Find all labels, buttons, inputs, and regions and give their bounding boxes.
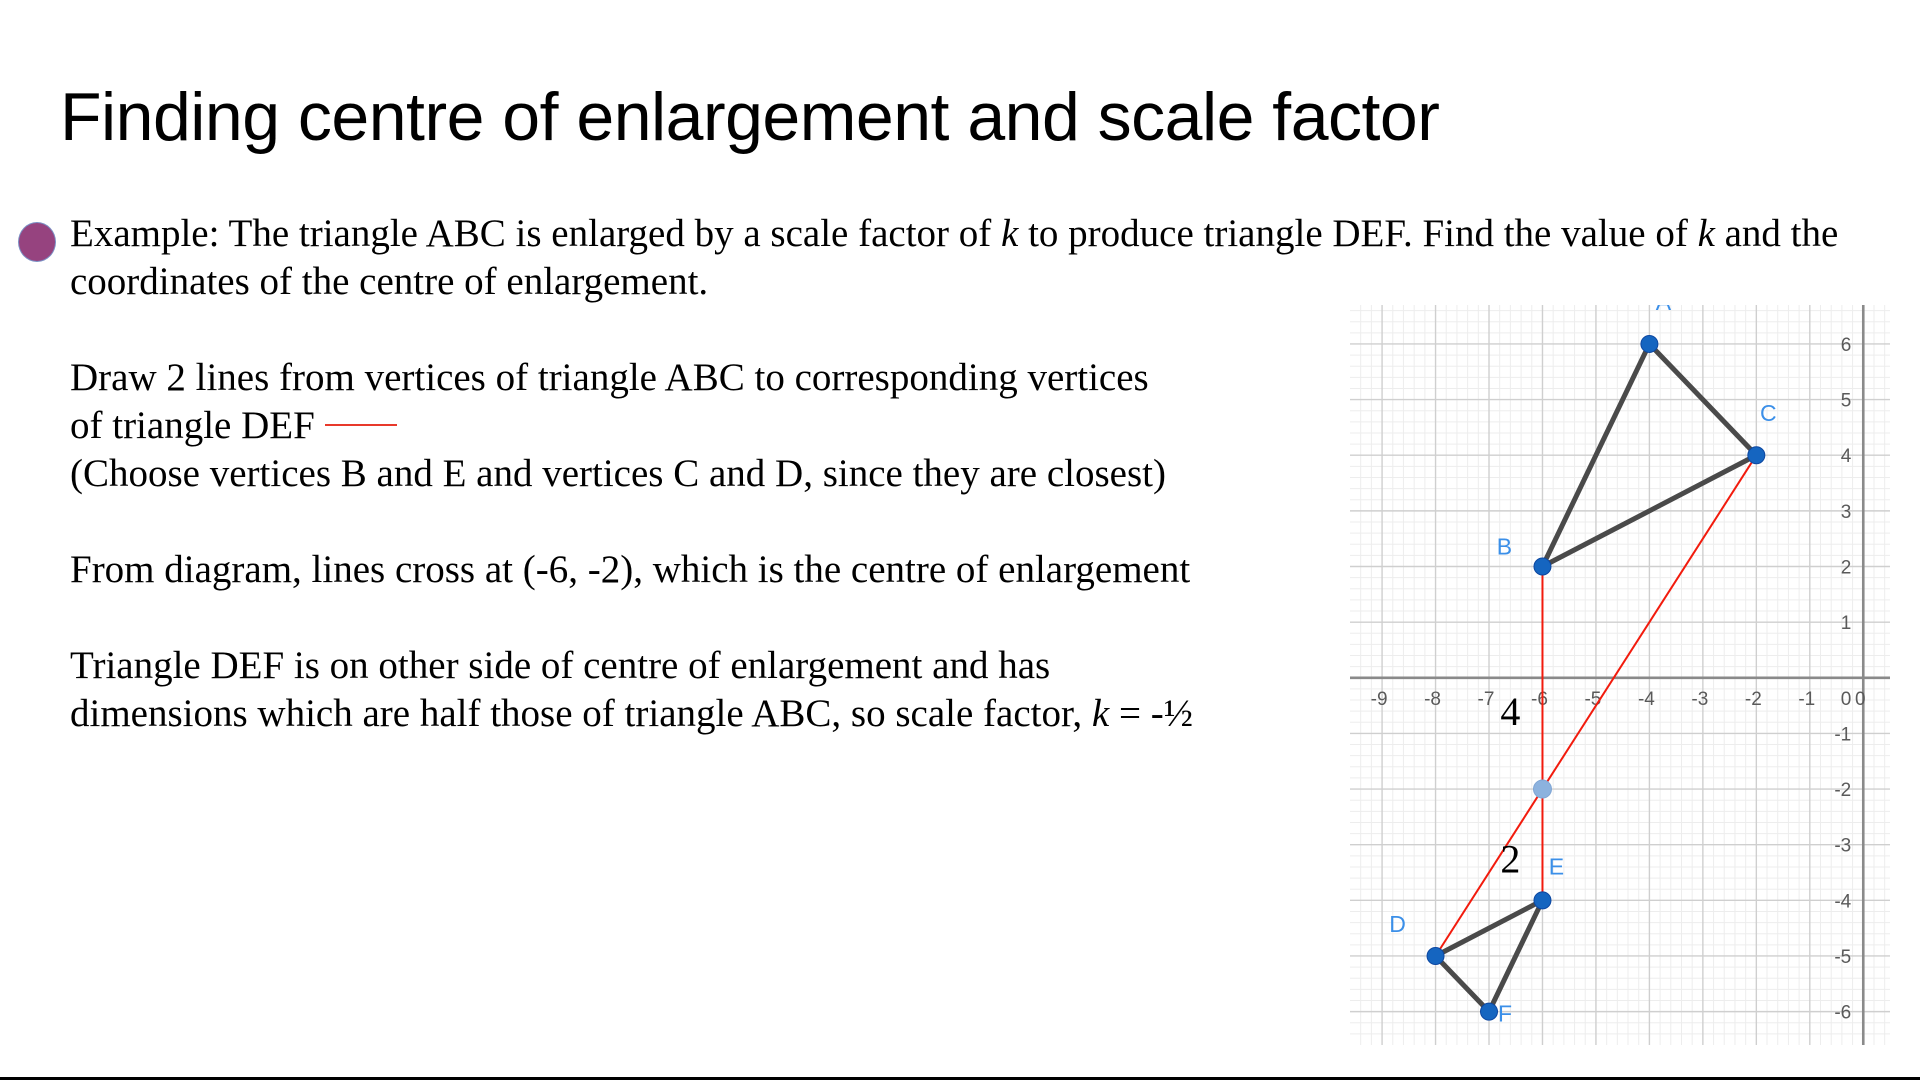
vertex-label-D: D [1389, 911, 1406, 937]
coordinate-grid-chart: -9-8-7-6-5-4-3-2-10654321-1-2-3-4-5-60AB… [1350, 305, 1890, 1045]
draw-lines-line1: Draw 2 lines from vertices of triangle A… [70, 356, 1149, 399]
red-line-swatch-icon [325, 424, 397, 426]
vertex-point-F [1481, 1003, 1498, 1020]
y-tick-label: 3 [1841, 502, 1852, 523]
example-k-2: k [1698, 212, 1715, 255]
conclusion-k: k [1092, 692, 1109, 735]
vertex-point-A [1641, 335, 1658, 352]
length-annotation-4: 4 [1500, 689, 1520, 734]
y-tick-label: 6 [1841, 335, 1852, 356]
x-tick-label: 0 [1855, 689, 1866, 710]
y-tick-label: 5 [1841, 391, 1852, 412]
example-text-a: Example: The triangle ABC is enlarged by… [70, 212, 1001, 255]
centre-of-enlargement-point [1533, 780, 1551, 798]
vertex-point-E [1534, 892, 1551, 909]
minor-gridlines [1350, 305, 1890, 1045]
bullet-dot-icon [18, 222, 56, 262]
y-tick-label: 4 [1841, 446, 1852, 467]
vertex-label-C: C [1760, 400, 1777, 426]
vertex-label-E: E [1549, 853, 1564, 879]
x-tick-label: -3 [1691, 689, 1708, 710]
page-title: Finding centre of enlargement and scale … [60, 78, 1860, 156]
y-tick-label: -3 [1834, 836, 1851, 857]
y-tick-label: -2 [1834, 780, 1851, 801]
vertex-label-A: A [1656, 305, 1672, 315]
paragraph-example: Example: The triangle ABC is enlarged by… [70, 210, 1900, 306]
slide: Finding centre of enlargement and scale … [0, 0, 1920, 1080]
tick-labels: -9-8-7-6-5-4-3-2-10654321-1-2-3-4-5-60 [1371, 335, 1866, 1024]
x-tick-label: -1 [1798, 689, 1815, 710]
example-k-1: k [1001, 212, 1018, 255]
x-tick-label: -9 [1371, 689, 1388, 710]
conclusion-line1: Triangle DEF is on other side of centre … [70, 644, 1050, 687]
origin-tick-label: 0 [1841, 689, 1852, 710]
x-tick-label: -2 [1745, 689, 1762, 710]
x-tick-label: -7 [1478, 689, 1495, 710]
vertex-label-B: B [1497, 534, 1512, 560]
vertex-point-B [1534, 558, 1551, 575]
chart-svg: -9-8-7-6-5-4-3-2-10654321-1-2-3-4-5-60AB… [1350, 305, 1890, 1045]
vertex-label-F: F [1498, 1001, 1512, 1027]
lines-cross-text: From diagram, lines cross at (-6, -2), w… [70, 548, 1190, 591]
y-tick-label: -6 [1834, 1003, 1851, 1024]
y-tick-label: 1 [1841, 613, 1852, 634]
length-annotation-2: 2 [1500, 837, 1520, 882]
x-tick-label: -8 [1424, 689, 1441, 710]
y-tick-label: -5 [1834, 947, 1851, 968]
y-tick-label: -1 [1834, 724, 1851, 745]
choose-vertices-text: (Choose vertices B and E and vertices C … [70, 452, 1166, 495]
x-tick-label: -6 [1531, 689, 1548, 710]
y-tick-label: 2 [1841, 558, 1852, 579]
example-text-b: to produce triangle DEF. Find the value … [1018, 212, 1697, 255]
vertex-point-C [1748, 447, 1765, 464]
y-tick-label: -4 [1834, 891, 1851, 912]
x-tick-label: -4 [1638, 689, 1655, 710]
conclusion-line2b: = -½ [1109, 692, 1193, 735]
vertex-point-D [1427, 947, 1444, 964]
conclusion-line2a: dimensions which are half those of trian… [70, 692, 1092, 735]
draw-lines-line2: of triangle DEF [70, 404, 315, 447]
chart-canvas: -9-8-7-6-5-4-3-2-10654321-1-2-3-4-5-60AB… [1350, 305, 1890, 1045]
